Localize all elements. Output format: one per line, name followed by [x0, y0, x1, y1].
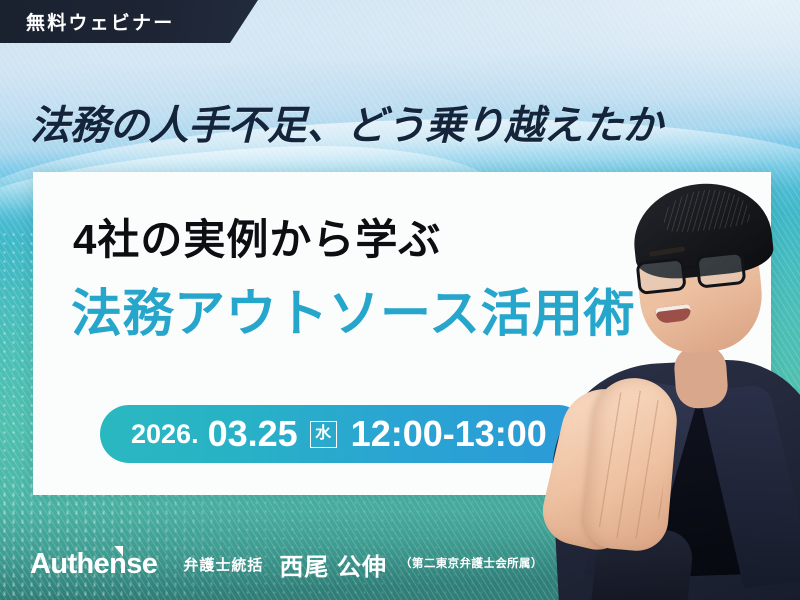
free-webinar-badge: 無料ウェビナー: [0, 0, 258, 43]
authense-logo: Authense: [30, 548, 157, 581]
webinar-banner: 無料ウェビナー 法務の人手不足、どう乗り越えたか 4社の実例から学ぶ 法務アウト…: [0, 0, 800, 600]
schedule-date: 03.25: [208, 413, 298, 455]
speaker-neck: [673, 344, 729, 409]
schedule-pill: 2026. 03.25 水 12:00-13:00: [100, 405, 587, 463]
authense-logo-text: Authense: [30, 548, 157, 580]
glasses-lens-right: [695, 251, 746, 289]
schedule-time: 12:00-13:00: [351, 413, 547, 455]
headline-text: 法務の人手不足、どう乗り越えたか: [30, 93, 662, 151]
speaker-role: 弁護士統括: [183, 554, 263, 575]
card-subtitle: 4社の実例から学ぶ: [73, 206, 441, 267]
schedule-day-of-week: 水: [310, 421, 337, 448]
footer-bar: Authense 弁護士統括 西尾 公伸 （第二東京弁護士会所属）: [0, 528, 800, 600]
glasses-lens-left: [636, 257, 687, 295]
speaker-affiliation: （第二東京弁護士会所属）: [400, 555, 543, 574]
free-webinar-badge-label: 無料ウェビナー: [26, 8, 174, 35]
schedule-year: 2026.: [131, 419, 199, 450]
speaker-name: 西尾 公伸: [279, 547, 387, 582]
